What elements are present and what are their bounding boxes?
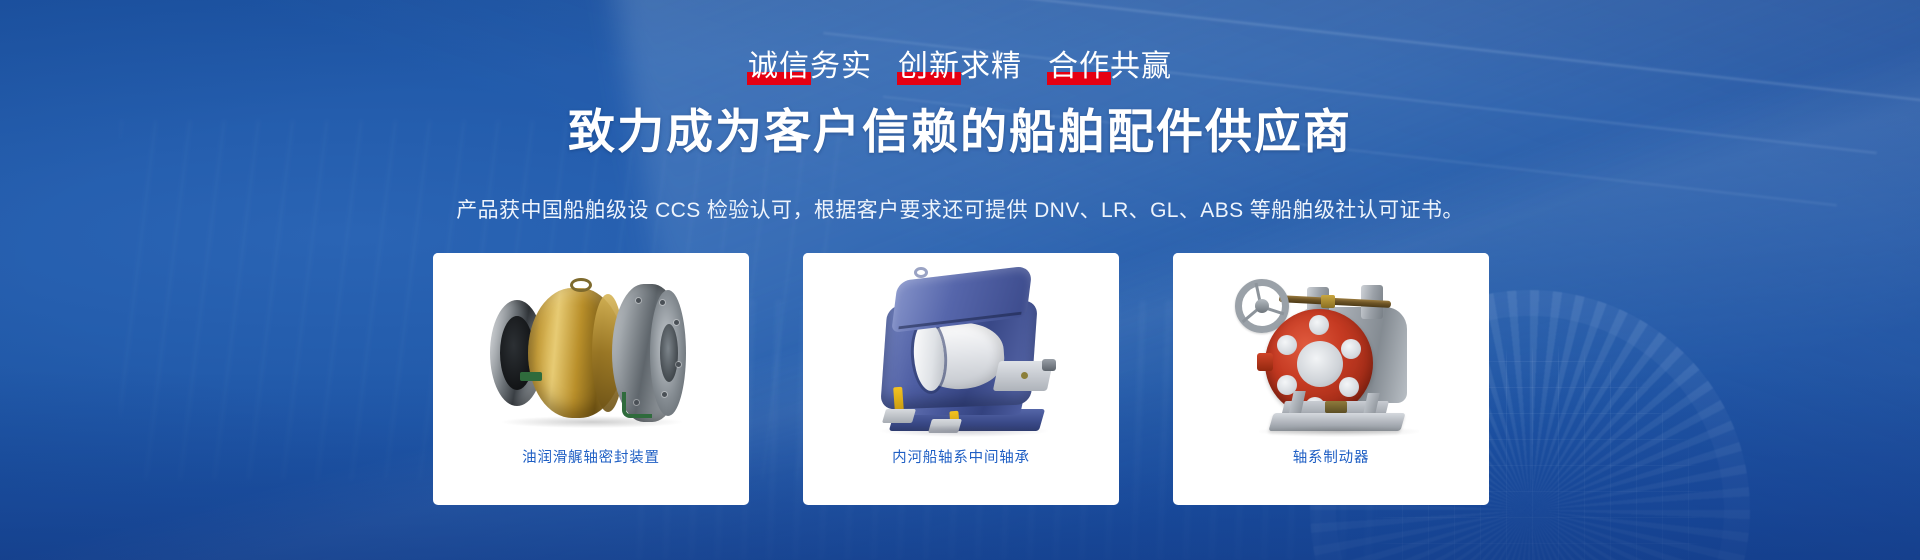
seal-green-tab <box>520 372 542 381</box>
seal-green-bracket <box>622 392 652 418</box>
seal-bolt <box>674 320 679 325</box>
product-card[interactable]: 轴系制动器 <box>1173 253 1489 505</box>
product-image-stern-shaft-seal <box>433 253 749 449</box>
shaft-brake-illustration <box>1233 265 1429 437</box>
brake-drop-shadow <box>1259 426 1419 437</box>
seal-drop-shadow <box>502 416 682 428</box>
product-label: 轴系制动器 <box>1293 451 1370 466</box>
stern-shaft-seal-illustration <box>484 276 698 426</box>
brake-disc-hole <box>1277 335 1297 355</box>
tagline-segment-3: 合作共赢 <box>1046 52 1174 82</box>
seal-bolt <box>662 392 667 397</box>
product-label: 油润滑艉轴密封装置 <box>522 451 660 466</box>
seal-bolt <box>660 300 665 305</box>
banner-subtitle: 产品获中国船舶级设 CCS 检验认可，根据客户要求还可提供 DNV、LR、GL、… <box>0 196 1920 225</box>
brake-rod-nut <box>1321 295 1335 308</box>
brake-disc-hole <box>1309 315 1329 335</box>
product-image-shaft-brake <box>1173 253 1489 449</box>
hero-banner: 诚信务实 创新求精 合作共赢 致力成为客户信赖的船舶配件供应商 产品获中国船舶级… <box>0 0 1920 560</box>
seal-hub <box>660 324 678 382</box>
seal-bolt <box>636 298 641 303</box>
brake-disc-hole <box>1339 377 1359 397</box>
tagline-rest-3: 共赢 <box>1110 50 1172 83</box>
bearing-yellow-pin <box>893 387 904 412</box>
intermediate-bearing-illustration <box>866 267 1056 435</box>
product-card[interactable]: 内河船轴系中间轴承 <box>803 253 1119 505</box>
bearing-plate-bolt <box>1021 372 1028 379</box>
product-label: 内河船轴系中间轴承 <box>892 451 1030 466</box>
tagline-highlight-1: 诚信 <box>748 52 810 82</box>
banner-tagline: 诚信务实 创新求精 合作共赢 <box>0 52 1920 82</box>
banner-headline: 致力成为客户信赖的船舶配件供应商 <box>0 100 1920 163</box>
brake-handwheel-hub <box>1255 299 1269 313</box>
product-card[interactable]: 油润滑艉轴密封装置 <box>433 253 749 505</box>
brake-nameplate <box>1325 401 1347 413</box>
tagline-highlight-3: 合作 <box>1048 52 1110 82</box>
seal-lifting-lug <box>570 278 592 292</box>
tagline-rest-2: 求精 <box>960 50 1022 83</box>
bearing-lifting-eye <box>914 267 928 278</box>
tagline-segment-1: 诚信务实 <box>746 52 874 82</box>
brake-disc-lug <box>1257 353 1273 371</box>
bearing-drop-shadow <box>880 425 1048 437</box>
brake-disc-bore <box>1297 341 1343 387</box>
seal-bolt <box>676 362 681 367</box>
tagline-segment-2: 创新求精 <box>896 52 1024 82</box>
bearing-knob <box>1042 359 1056 371</box>
tagline-rest-1: 务实 <box>810 50 872 83</box>
bearing-foot <box>882 409 916 423</box>
tagline-highlight-2: 创新 <box>898 52 960 82</box>
product-image-intermediate-shaft-bearing <box>803 253 1119 449</box>
product-card-list: 油润滑艉轴密封装置 <box>433 253 1489 505</box>
brake-disc-hole <box>1341 339 1361 359</box>
